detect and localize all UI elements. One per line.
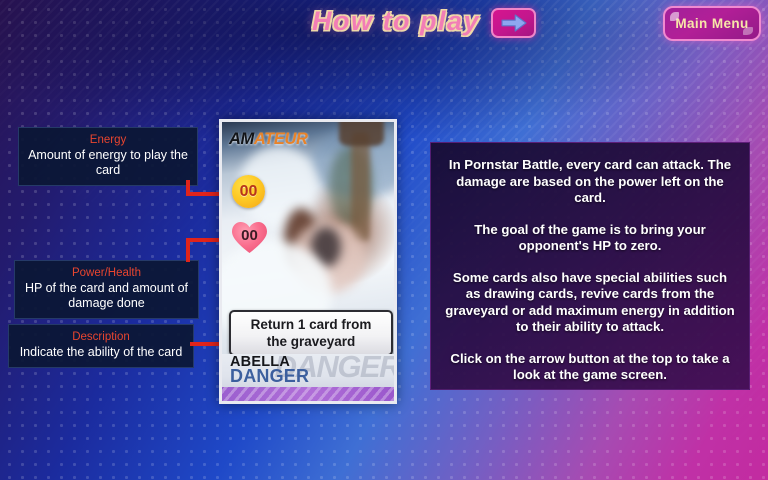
page-title: How to play (296, 6, 496, 37)
card-category-prefix: AM (229, 130, 254, 148)
arrow-right-icon (501, 14, 527, 32)
annotation-power-health-desc: HP of the card and amount of damage done (23, 281, 190, 311)
example-card[interactable]: AMATEUR 00 00 Return 1 card from the gra… (219, 119, 397, 404)
artwork-blob-top (339, 119, 384, 146)
how-to-play-screen: How to play Main Menu Energy Amount of e… (0, 0, 768, 480)
annotation-energy-desc: Amount of energy to play the card (27, 148, 189, 178)
card-energy-value: 00 (240, 183, 258, 201)
card-ability-line-1: Return 1 card from (251, 317, 372, 332)
main-menu-button[interactable]: Main Menu (663, 6, 761, 41)
instructions-paragraph-1: In Pornstar Battle, every card can attac… (445, 157, 735, 207)
annotation-energy: Energy Amount of energy to play the card (18, 127, 198, 186)
instructions-paragraph-2: The goal of the game is to bring your op… (445, 222, 735, 255)
annotation-description-title: Description (17, 330, 185, 344)
card-category-label: AMATEUR (229, 130, 307, 149)
card-ability-text: Return 1 card from the graveyard (251, 316, 372, 350)
annotation-energy-title: Energy (27, 133, 189, 147)
card-footer: DANGER ABELLA DANGER (222, 354, 394, 401)
instructions-paragraph-4: Click on the arrow button at the top to … (445, 351, 735, 384)
card-ability-box: Return 1 card from the graveyard (229, 310, 393, 356)
artwork-blob-post (351, 132, 370, 241)
card-category-suffix: ATEUR (254, 130, 308, 148)
annotation-description-desc: Indicate the ability of the card (17, 345, 185, 360)
card-name-last: DANGER (230, 369, 309, 384)
annotation-description: Description Indicate the ability of the … (8, 324, 194, 368)
card-footer-stripe (222, 387, 394, 401)
annotation-power-health-title: Power/Health (23, 266, 190, 280)
button-gloss-bottom-right (743, 27, 753, 35)
instructions-panel: In Pornstar Battle, every card can attac… (430, 142, 750, 390)
card-energy-badge: 00 (232, 175, 265, 208)
card-ability-line-2: the graveyard (267, 334, 356, 349)
card-health-badge: 00 (232, 222, 267, 253)
card-health-value: 00 (232, 222, 267, 253)
main-menu-button-label: Main Menu (675, 16, 748, 31)
next-arrow-button[interactable] (491, 8, 536, 38)
card-name: ABELLA DANGER (230, 355, 309, 384)
instructions-paragraph-3: Some cards also have special abilities s… (445, 270, 735, 336)
annotation-power-health: Power/Health HP of the card and amount o… (14, 260, 199, 319)
